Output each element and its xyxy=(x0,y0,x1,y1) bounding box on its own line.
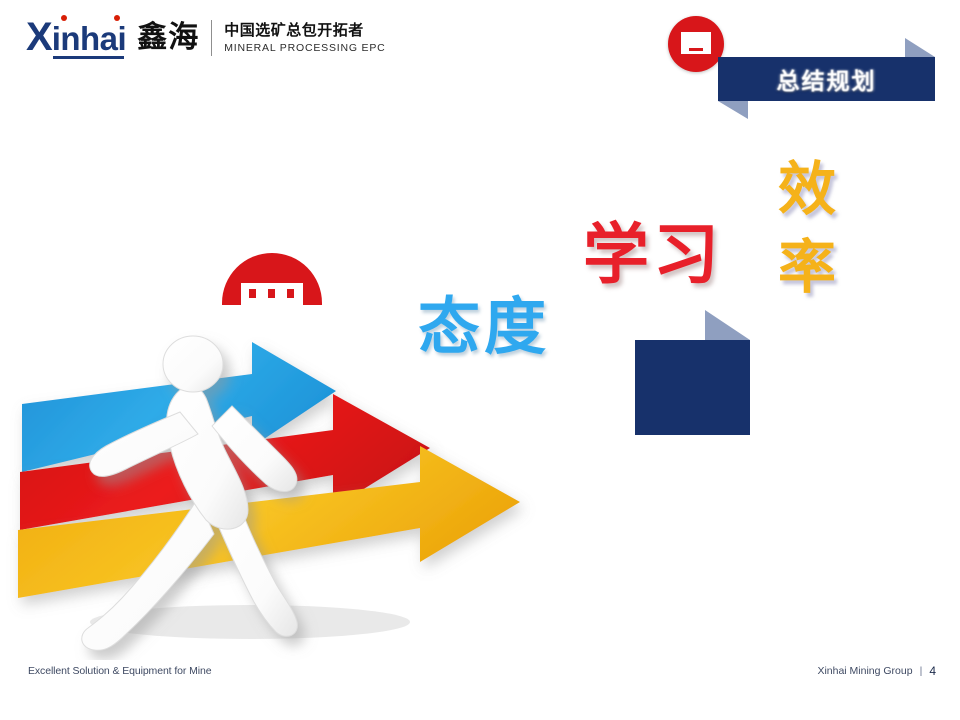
logo-tagline: 中国选矿总包开拓者 MINERAL PROCESSING EPC xyxy=(224,21,385,55)
red-dome-inner xyxy=(241,283,303,305)
logo-chinese-name: 鑫海 xyxy=(137,23,199,53)
arrows-and-figure-illustration xyxy=(0,330,620,660)
wordart-learning: 学习 xyxy=(583,222,723,288)
logo-tagline-cn: 中国选矿总包开拓者 xyxy=(224,21,385,39)
logo-dot-icon xyxy=(114,15,120,21)
brand-logo: X inhai 鑫海 中国选矿总包开拓者 MINERAL PROCESSING … xyxy=(26,14,386,62)
section-title-text: 总结规划 xyxy=(718,57,935,101)
monitor-icon xyxy=(681,32,711,54)
ribbon-fold-top-right xyxy=(905,38,935,57)
logo-divider xyxy=(211,20,212,56)
logo-wordmark: inhai xyxy=(52,20,127,57)
navy-block-fold xyxy=(705,310,750,340)
red-dome-tick xyxy=(287,289,294,298)
wordart-efficiency-char-1: 效 xyxy=(778,150,838,228)
footer-separator: | xyxy=(920,665,923,677)
ribbon-fold-bottom-left xyxy=(718,101,748,119)
logo-x-mark: X xyxy=(26,17,52,57)
red-dome-shape xyxy=(222,253,322,305)
logo-tagline-en: MINERAL PROCESSING EPC xyxy=(224,42,385,55)
page-number: 4 xyxy=(929,664,936,678)
wordart-efficiency-char-2: 率 xyxy=(778,228,838,306)
footer-company: Xinhai Mining Group xyxy=(817,665,912,677)
section-title-ribbon: 总结规划 xyxy=(718,57,935,101)
logo-underline xyxy=(53,56,125,59)
red-dome-tick xyxy=(249,289,256,298)
footer-slogan: Excellent Solution & Equipment for Mine xyxy=(28,665,211,677)
logo-wordmark-wrap: inhai xyxy=(52,22,127,55)
footer-meta: Xinhai Mining Group | 4 xyxy=(817,664,936,678)
logo-dot-icon xyxy=(61,15,67,21)
navy-content-block xyxy=(635,340,750,435)
wordart-efficiency: 效 率 xyxy=(778,150,838,307)
section-badge xyxy=(668,16,724,72)
red-dome-tick xyxy=(268,289,275,298)
slide-canvas: X inhai 鑫海 中国选矿总包开拓者 MINERAL PROCESSING … xyxy=(0,0,960,720)
